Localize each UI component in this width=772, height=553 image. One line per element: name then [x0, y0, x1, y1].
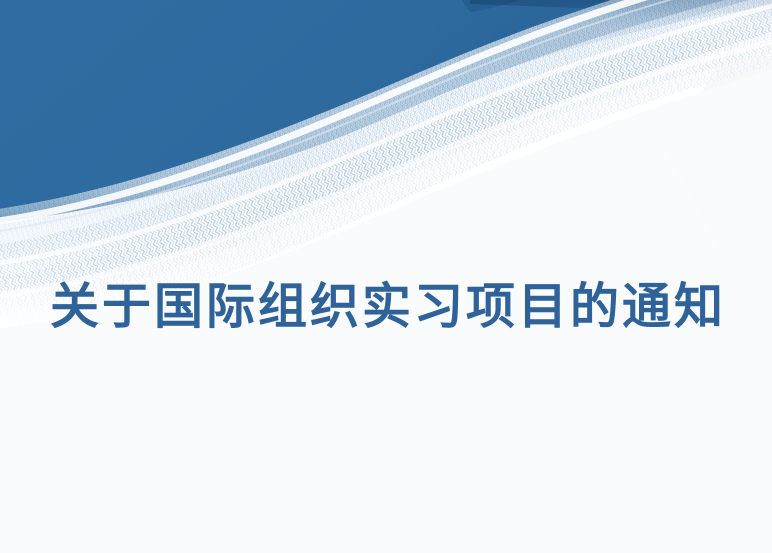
page-title: 关于国际组织实习项目的通知 [50, 281, 726, 333]
slide-canvas: 关于国际组织实习项目的通知 [0, 0, 772, 553]
title-container: 关于国际组织实习项目的通知 [50, 272, 740, 342]
